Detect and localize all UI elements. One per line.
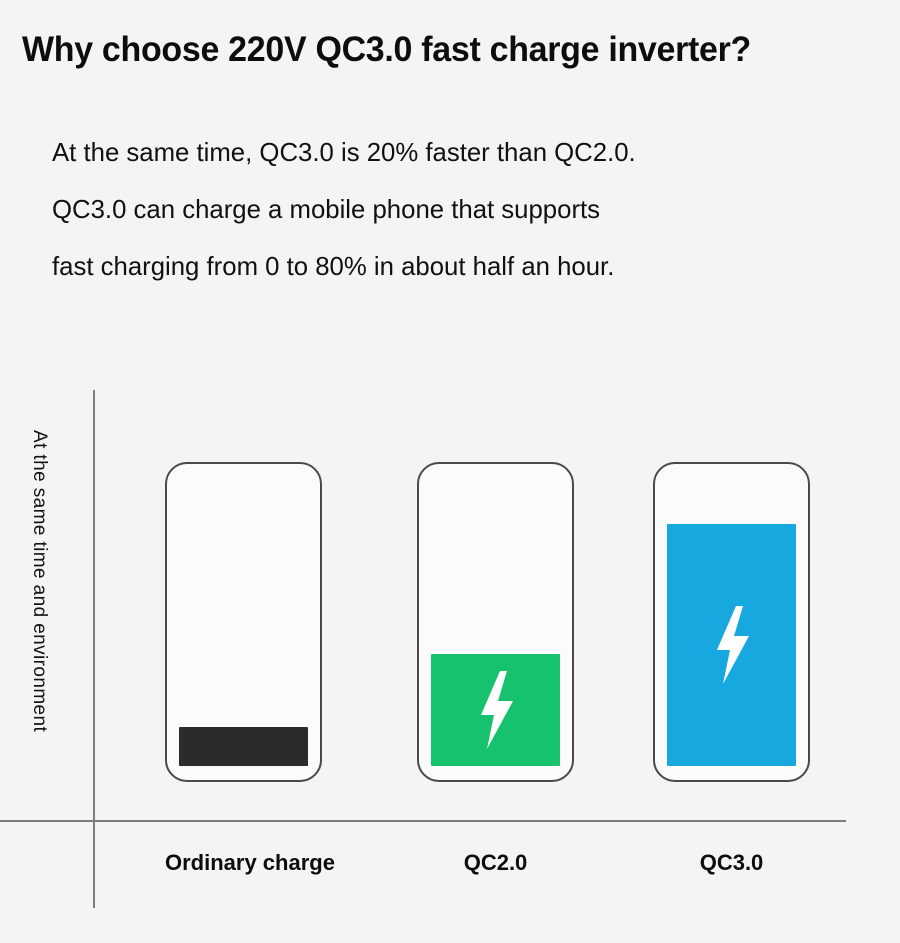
battery-bar-qc3 bbox=[653, 462, 810, 782]
battery-comparison-chart: At the same time and environment Ordinar… bbox=[0, 0, 900, 943]
battery-fill-qc3 bbox=[667, 524, 796, 766]
x-axis-label-qc2: QC2.0 bbox=[417, 850, 574, 876]
battery-bar-qc2 bbox=[417, 462, 574, 782]
promo-graphic: Why choose 220V QC3.0 fast charge invert… bbox=[0, 0, 900, 943]
lightning-bolt-icon bbox=[709, 606, 755, 684]
x-axis-label-ordinary-charge: Ordinary charge bbox=[165, 850, 322, 876]
y-axis-line bbox=[93, 390, 95, 908]
battery-fill-qc2 bbox=[431, 654, 560, 766]
lightning-bolt-icon bbox=[473, 671, 519, 749]
battery-fill-ordinary-charge bbox=[179, 727, 308, 766]
y-axis-label: At the same time and environment bbox=[28, 430, 50, 830]
x-axis-label-qc3: QC3.0 bbox=[653, 850, 810, 876]
battery-bar-ordinary-charge bbox=[165, 462, 322, 782]
x-axis-line bbox=[0, 820, 846, 822]
